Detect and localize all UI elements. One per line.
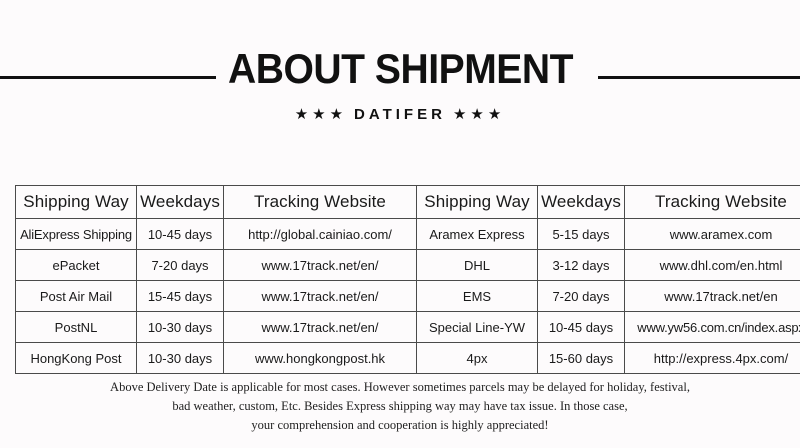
shipping-methods-table: Shipping Way Weekdays Tracking Website S… bbox=[15, 185, 800, 374]
cell-shipping-way-right: DHL bbox=[417, 250, 538, 281]
table-row: PostNL 10-30 days www.17track.net/en/ Sp… bbox=[16, 312, 800, 343]
shipping-methods-table-wrap: Shipping Way Weekdays Tracking Website S… bbox=[15, 185, 787, 374]
table-header-row: Shipping Way Weekdays Tracking Website S… bbox=[16, 186, 800, 219]
brand-row: ★★★ DATIFER ★★★ bbox=[0, 106, 800, 123]
brand-name: DATIFER bbox=[351, 106, 449, 123]
cell-weekdays-right: 7-20 days bbox=[538, 281, 625, 312]
disclaimer-line-3: your comprehension and cooperation is hi… bbox=[0, 416, 800, 435]
cell-shipping-way-left: AliExpress Shipping bbox=[16, 219, 137, 250]
column-header-shipping-way-right: Shipping Way bbox=[417, 186, 538, 219]
cell-weekdays-right: 3-12 days bbox=[538, 250, 625, 281]
table-row: Post Air Mail 15-45 days www.17track.net… bbox=[16, 281, 800, 312]
title-row: ABOUT SHIPMENT bbox=[0, 42, 800, 92]
cell-shipping-way-left: HongKong Post bbox=[16, 343, 137, 374]
cell-tracking-website-left[interactable]: http://global.cainiao.com/ bbox=[224, 219, 417, 250]
stars-right-icon: ★★★ bbox=[453, 107, 505, 122]
cell-tracking-website-right[interactable]: www.dhl.com/en.html bbox=[625, 250, 800, 281]
title-rule-left-decoration bbox=[0, 76, 216, 79]
disclaimer-footer: Above Delivery Date is applicable for mo… bbox=[0, 378, 800, 435]
table-row: AliExpress Shipping 10-45 days http://gl… bbox=[16, 219, 800, 250]
title-rule-right-decoration bbox=[598, 76, 800, 79]
cell-tracking-website-right[interactable]: www.yw56.com.cn/index.aspx bbox=[625, 312, 800, 343]
cell-tracking-website-left[interactable]: www.17track.net/en/ bbox=[224, 281, 417, 312]
cell-weekdays-right: 5-15 days bbox=[538, 219, 625, 250]
cell-tracking-website-right[interactable]: www.aramex.com bbox=[625, 219, 800, 250]
disclaimer-line-2: bad weather, custom, Etc. Besides Expres… bbox=[0, 397, 800, 416]
cell-tracking-website-left[interactable]: www.17track.net/en/ bbox=[224, 250, 417, 281]
cell-weekdays-right: 10-45 days bbox=[538, 312, 625, 343]
column-header-tracking-website-left: Tracking Website bbox=[224, 186, 417, 219]
column-header-weekdays-right: Weekdays bbox=[538, 186, 625, 219]
cell-weekdays-right: 15-60 days bbox=[538, 343, 625, 374]
table-row: ePacket 7-20 days www.17track.net/en/ DH… bbox=[16, 250, 800, 281]
cell-shipping-way-left: PostNL bbox=[16, 312, 137, 343]
cell-weekdays-left: 10-30 days bbox=[137, 312, 224, 343]
disclaimer-line-1: Above Delivery Date is applicable for mo… bbox=[0, 378, 800, 397]
table-body: AliExpress Shipping 10-45 days http://gl… bbox=[16, 219, 800, 374]
cell-weekdays-left: 7-20 days bbox=[137, 250, 224, 281]
column-header-tracking-website-right: Tracking Website bbox=[625, 186, 800, 219]
banner-header: ABOUT SHIPMENT ★★★ DATIFER ★★★ bbox=[0, 42, 800, 137]
cell-tracking-website-left[interactable]: www.17track.net/en/ bbox=[224, 312, 417, 343]
about-shipment-banner: ABOUT SHIPMENT ★★★ DATIFER ★★★ Shipping … bbox=[0, 0, 800, 448]
cell-weekdays-left: 15-45 days bbox=[137, 281, 224, 312]
table-header: Shipping Way Weekdays Tracking Website S… bbox=[16, 186, 800, 219]
page-title: ABOUT SHIPMENT bbox=[227, 44, 572, 90]
cell-tracking-website-right[interactable]: www.17track.net/en bbox=[625, 281, 800, 312]
cell-shipping-way-right: 4px bbox=[417, 343, 538, 374]
cell-shipping-way-left: ePacket bbox=[16, 250, 137, 281]
cell-shipping-way-right: Special Line-YW bbox=[417, 312, 538, 343]
cell-weekdays-left: 10-30 days bbox=[137, 343, 224, 374]
cell-shipping-way-right: EMS bbox=[417, 281, 538, 312]
column-header-weekdays-left: Weekdays bbox=[137, 186, 224, 219]
cell-shipping-way-left: Post Air Mail bbox=[16, 281, 137, 312]
cell-tracking-website-right[interactable]: http://express.4px.com/ bbox=[625, 343, 800, 374]
cell-weekdays-left: 10-45 days bbox=[137, 219, 224, 250]
table-row: HongKong Post 10-30 days www.hongkongpos… bbox=[16, 343, 800, 374]
stars-left-icon: ★★★ bbox=[295, 107, 347, 122]
cell-shipping-way-right: Aramex Express bbox=[417, 219, 538, 250]
column-header-shipping-way-left: Shipping Way bbox=[16, 186, 137, 219]
cell-tracking-website-left[interactable]: www.hongkongpost.hk bbox=[224, 343, 417, 374]
